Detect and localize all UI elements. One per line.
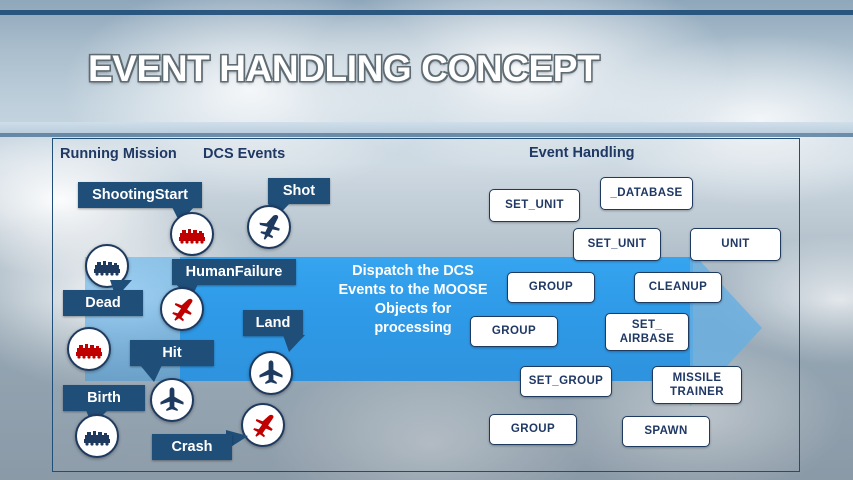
event-icon-land[interactable] [249,351,293,395]
moose-box-label: SET_ AIRBASE [620,318,675,346]
moose-box-label: CLEANUP [649,280,707,294]
jet-icon [257,359,285,387]
moose-box-label: SET_GROUP [529,374,604,388]
header-running-mission: Running Mission [60,146,177,162]
event-label: Crash [171,439,212,455]
callout-tail-land [283,335,305,352]
tank-icon [74,339,104,359]
event-label: Birth [87,390,121,406]
moose-box-label: GROUP [492,324,536,338]
moose-box-unit[interactable]: UNIT [690,228,781,261]
header-event-handling: Event Handling [529,145,635,161]
event-label: Shot [283,183,315,199]
fighter-icon [249,411,277,439]
event-callout-hit[interactable]: Hit [130,340,214,366]
event-icon-shot[interactable] [247,205,291,249]
moose-box-label: SET_UNIT [505,198,564,212]
event-callout-land[interactable]: Land [243,310,303,336]
moose-box-set-airbase[interactable]: SET_ AIRBASE [605,313,689,351]
callout-tail-hit [140,365,162,382]
moose-box-label: SET_UNIT [588,237,647,251]
page-title: EVENT HANDLING CONCEPT [88,48,599,90]
tank-icon [92,256,122,276]
tank-icon [82,426,112,446]
event-icon-humanfailure[interactable] [160,287,204,331]
moose-box-group-1[interactable]: GROUP [507,272,595,303]
event-icon-hit[interactable] [150,378,194,422]
slide-canvas: EVENT HANDLING CONCEPT Dispatch the DCS … [0,0,853,480]
dispatch-label: Dispatch the DCS Events to the MOOSE Obj… [338,262,488,339]
event-icon-unlabeled-tank[interactable] [67,327,111,371]
moose-box-set-unit-1[interactable]: SET_UNIT [489,189,580,222]
header-dcs-events: DCS Events [203,146,285,162]
fighter-icon [168,295,196,323]
event-callout-shootingstart[interactable]: ShootingStart [78,182,202,208]
moose-box-label: GROUP [529,280,573,294]
event-label: ShootingStart [92,187,188,203]
banner-bottom-band [0,122,853,133]
moose-box-cleanup[interactable]: CLEANUP [634,272,722,303]
jet-icon [255,213,283,241]
moose-box-set-group[interactable]: SET_GROUP [520,366,612,397]
event-callout-crash[interactable]: Crash [152,434,232,460]
moose-box-missile-trainer[interactable]: MISSILE TRAINER [652,366,742,404]
moose-box-group-3[interactable]: GROUP [489,414,577,445]
event-label: Land [256,315,291,331]
moose-box-group-2[interactable]: GROUP [470,316,558,347]
moose-box-label: MISSILE TRAINER [670,371,724,399]
moose-box-label: SPAWN [644,424,687,438]
moose-box-set-unit-2[interactable]: SET_UNIT [573,228,661,261]
banner-top-rule [0,10,853,15]
moose-box-database[interactable]: _DATABASE [600,177,693,210]
event-callout-birth[interactable]: Birth [63,385,145,411]
jet-icon [158,386,186,414]
event-label: HumanFailure [186,264,283,280]
event-callout-shot[interactable]: Shot [268,178,330,204]
moose-box-label: UNIT [721,237,749,251]
event-label: Hit [162,345,181,361]
moose-box-label: _DATABASE [610,186,682,200]
moose-box-label: GROUP [511,422,555,436]
tank-icon [177,224,207,244]
event-icon-birth[interactable] [75,414,119,458]
moose-box-spawn[interactable]: SPAWN [622,416,710,447]
event-callout-humanfailure[interactable]: HumanFailure [172,259,296,285]
event-icon-shootingstart[interactable] [170,212,214,256]
event-label: Dead [85,295,120,311]
event-callout-dead[interactable]: Dead [63,290,143,316]
banner-bottom-rule [0,133,853,137]
